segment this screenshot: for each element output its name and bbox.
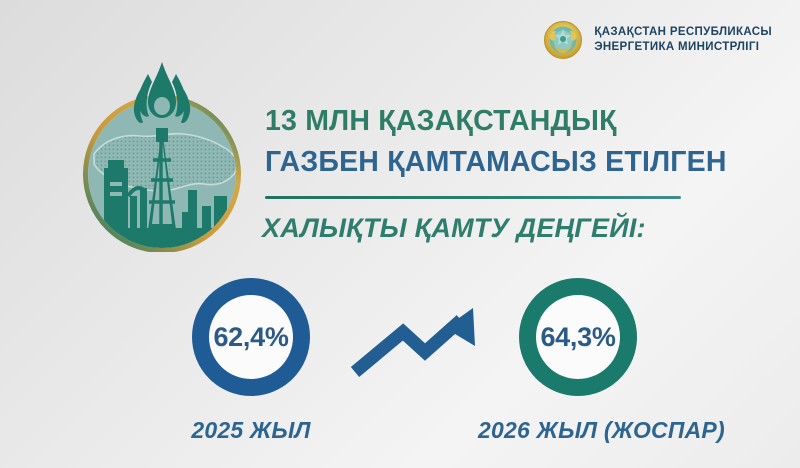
donut-chart-2025: 62,4% [192, 278, 310, 396]
stat-group-2025: 62,4% 2025 ЖЫЛ [151, 278, 351, 444]
ministry-name-line-2: ЭНЕРГЕТИКА МИНИСТРЛІГІ [594, 40, 772, 55]
stat-caption-2025: 2025 ЖЫЛ [151, 417, 351, 444]
ministry-name-line-1: ҚАЗАҚСТАН РЕСПУБЛИКАСЫ [594, 25, 772, 40]
coverage-stats: 62,4% 2025 ЖЫЛ 64,3% 2026 ЖЫЛ (ЖОСПАР) [0, 278, 800, 468]
gas-industry-badge-icon [64, 56, 260, 252]
subtitle: ХАЛЫҚТЫ ҚАМТУ ДЕҢГЕЙІ: [262, 213, 646, 244]
ministry-name: ҚАЗАҚСТАН РЕСПУБЛИКАСЫ ЭНЕРГЕТИКА МИНИСТ… [594, 25, 772, 56]
stat-caption-2026: 2026 ЖЫЛ (ЖОСПАР) [478, 417, 678, 444]
page-title: 13 МЛН ҚАЗАҚСТАНДЫҚ ГАЗБЕН ҚАМТАМАСЫЗ ЕТ… [265, 101, 685, 183]
donut-value-2026: 64,3% [540, 324, 615, 351]
donut-value-2025: 62,4% [213, 324, 288, 351]
title-divider [265, 196, 681, 199]
page-title-line-2: ГАЗБЕН ҚАМТАМАСЫЗ ЕТІЛГЕН [265, 142, 685, 183]
upward-trend-arrow-icon [349, 300, 489, 380]
donut-chart-2026: 64,3% [519, 278, 637, 396]
ministry-lockup: ҚАЗАҚСТАН РЕСПУБЛИКАСЫ ЭНЕРГЕТИКА МИНИСТ… [543, 20, 772, 60]
kazakhstan-coat-of-arms-icon [543, 20, 583, 60]
stat-group-2026: 64,3% 2026 ЖЫЛ (ЖОСПАР) [478, 278, 678, 444]
page-title-line-1: 13 МЛН ҚАЗАҚСТАНДЫҚ [265, 101, 685, 142]
